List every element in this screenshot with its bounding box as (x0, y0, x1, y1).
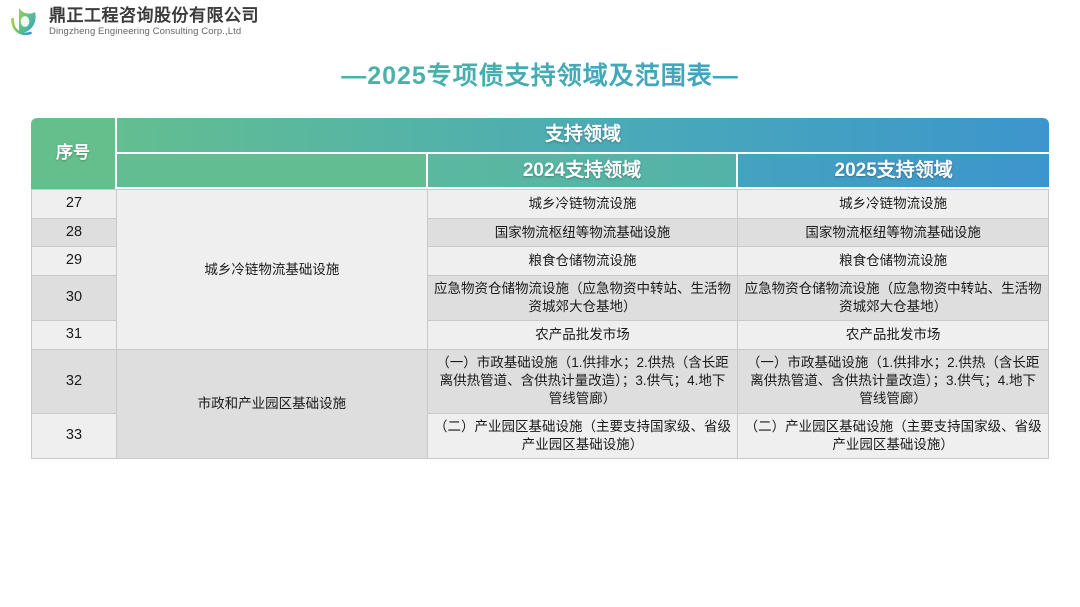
brand-name-cn: 鼎正工程咨询股份有限公司 (49, 7, 259, 25)
cell-seq: 28 (31, 219, 117, 248)
cell-2025: 粮食仓储物流设施 (738, 247, 1049, 276)
cell-2025: 国家物流枢纽等物流基础设施 (738, 219, 1049, 248)
header-2024: 2024支持领域 (428, 154, 739, 190)
table-row: 32 市政和产业园区基础设施 （一）市政基础设施（1.供排水；2.供热（含长距离… (31, 350, 1049, 414)
cell-seq: 29 (31, 247, 117, 276)
header-seq: 序号 (31, 118, 117, 189)
support-scope-table-wrapper: 序号 支持领域 2024支持领域 2025支持领域 27 城乡冷链物流基础设施 … (31, 118, 1049, 459)
header-category-spacer (117, 154, 428, 190)
cell-2025: 农产品批发市场 (738, 321, 1049, 350)
cell-2025: 应急物资仓储物流设施（应急物资中转站、生活物资城郊大仓基地） (738, 276, 1049, 321)
cell-2025: 城乡冷链物流设施 (738, 189, 1049, 219)
cell-seq: 27 (31, 189, 117, 219)
cell-2024: 农产品批发市场 (428, 321, 739, 350)
page-title: —2025专项债支持领域及范围表— (0, 56, 1080, 92)
cell-category: 市政和产业园区基础设施 (117, 350, 428, 459)
dingzheng-leaf-logo-icon (8, 5, 42, 39)
cell-2024: （一）市政基础设施（1.供排水；2.供热（含长距离供热管道、含供热计量改造）；3… (428, 350, 739, 414)
cell-category: 城乡冷链物流基础设施 (117, 189, 428, 350)
cell-2024: （二）产业园区基础设施（主要支持国家级、省级产业园区基础设施） (428, 414, 739, 459)
header-2025: 2025支持领域 (738, 154, 1049, 190)
brand-header: 鼎正工程咨询股份有限公司 Dingzheng Engineering Consu… (8, 5, 259, 39)
table-header-row-1: 序号 支持领域 (31, 118, 1049, 154)
cell-seq: 33 (31, 414, 117, 459)
header-domain: 支持领域 (117, 118, 1049, 154)
brand-name-en: Dingzheng Engineering Consulting Corp.,L… (49, 27, 259, 37)
cell-seq: 32 (31, 350, 117, 414)
cell-2024: 粮食仓储物流设施 (428, 247, 739, 276)
table-body: 27 城乡冷链物流基础设施 城乡冷链物流设施 城乡冷链物流设施 28 国家物流枢… (31, 189, 1049, 459)
cell-2024: 应急物资仓储物流设施（应急物资中转站、生活物资城郊大仓基地） (428, 276, 739, 321)
table-header: 序号 支持领域 2024支持领域 2025支持领域 (31, 118, 1049, 189)
cell-seq: 31 (31, 321, 117, 350)
support-scope-table: 序号 支持领域 2024支持领域 2025支持领域 27 城乡冷链物流基础设施 … (31, 118, 1049, 459)
cell-2025: （一）市政基础设施（1.供排水；2.供热（含长距离供热管道、含供热计量改造）；3… (738, 350, 1049, 414)
cell-2024: 国家物流枢纽等物流基础设施 (428, 219, 739, 248)
table-header-row-2: 2024支持领域 2025支持领域 (31, 154, 1049, 190)
cell-seq: 30 (31, 276, 117, 321)
cell-2024: 城乡冷链物流设施 (428, 189, 739, 219)
cell-2025: （二）产业园区基础设施（主要支持国家级、省级产业园区基础设施） (738, 414, 1049, 459)
table-row: 27 城乡冷链物流基础设施 城乡冷链物流设施 城乡冷链物流设施 (31, 189, 1049, 219)
